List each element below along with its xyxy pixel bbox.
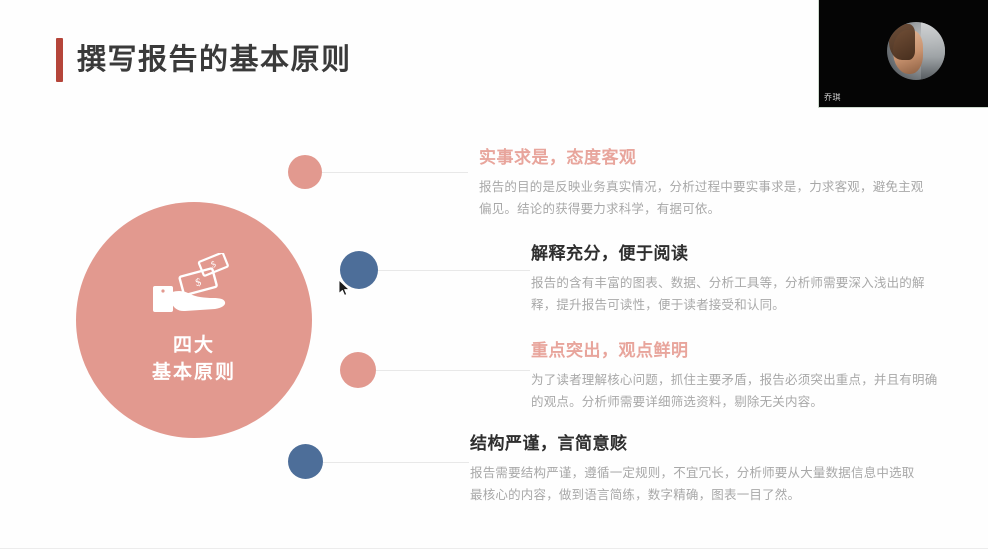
- bullet-dot-1: [288, 155, 322, 189]
- bullet-dot-3: [340, 352, 376, 388]
- avatar-background: [921, 22, 945, 80]
- connector-line-1: [322, 172, 468, 173]
- screen-root: 撰写报告的基本原则 $ $: [0, 0, 988, 558]
- principle-body-1: 报告的目的是反映业务真实情况，分析过程中要实事求是，力求客观，避免主观偏见。结论…: [479, 177, 931, 220]
- connector-line-4: [323, 462, 469, 463]
- hub-label-line2: 基本原则: [152, 360, 236, 387]
- hub-label-line1: 四大: [173, 335, 215, 356]
- principle-heading-4: 结构严谨，言简意赅: [470, 434, 922, 454]
- principle-item-3: 重点突出，观点鲜明 为了读者理解核心问题，抓住主要矛盾，报告必须突出重点，并且有…: [531, 341, 943, 413]
- bullet-dot-4: [288, 444, 323, 479]
- participant-name-label: 乔琪: [824, 94, 841, 102]
- connector-line-2: [378, 270, 530, 271]
- title-accent-bar: [56, 38, 63, 82]
- principle-body-4: 报告需要结构严谨，遵循一定规则，不宜冗长，分析师要从大量数据信息中选取最核心的内…: [470, 463, 922, 506]
- slide-bottom-edge: [0, 548, 988, 558]
- principle-item-4: 结构严谨，言简意赅 报告需要结构严谨，遵循一定规则，不宜冗长，分析师要从大量数据…: [470, 434, 922, 506]
- avatar: [887, 22, 945, 80]
- page-title: 撰写报告的基本原则: [56, 38, 352, 82]
- principle-heading-3: 重点突出，观点鲜明: [531, 341, 943, 361]
- bullet-dot-2: [340, 251, 378, 289]
- principle-heading-1: 实事求是，态度客观: [479, 148, 931, 168]
- hub-circle: $ $ 四大 基本原则: [76, 202, 312, 438]
- title-text: 撰写报告的基本原则: [77, 46, 352, 75]
- principle-body-2: 报告的含有丰富的图表、数据、分析工具等，分析师需要深入浅出的解释，提升报告可读性…: [531, 273, 936, 316]
- principle-heading-2: 解释充分，便于阅读: [531, 244, 936, 264]
- hub-label: 四大 基本原则: [152, 333, 236, 387]
- webcam-panel[interactable]: 乔琪: [818, 0, 988, 108]
- principle-item-2: 解释充分，便于阅读 报告的含有丰富的图表、数据、分析工具等，分析师需要深入浅出的…: [531, 244, 936, 316]
- hand-receiving-money-icon: $ $: [151, 253, 237, 317]
- avatar-hair: [889, 24, 915, 60]
- principle-item-1: 实事求是，态度客观 报告的目的是反映业务真实情况，分析过程中要实事求是，力求客观…: [479, 148, 931, 220]
- svg-text:$: $: [194, 276, 203, 289]
- principle-body-3: 为了读者理解核心问题，抓住主要矛盾，报告必须突出重点，并且有明确的观点。分析师需…: [531, 370, 943, 413]
- connector-line-3: [376, 370, 530, 371]
